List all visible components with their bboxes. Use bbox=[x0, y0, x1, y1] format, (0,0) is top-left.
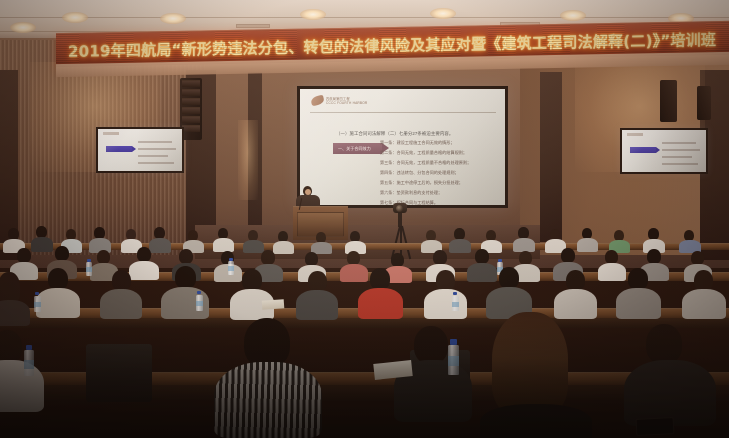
smartphone bbox=[636, 417, 675, 436]
monitor-logo bbox=[103, 132, 119, 135]
projection-screen: 四航局第四工程 CCCC FOURTH HARBOR （一）施工合同司法解释（二… bbox=[297, 86, 508, 208]
chair-back bbox=[86, 344, 152, 402]
water-bottle bbox=[86, 262, 92, 276]
monitor-section-tab bbox=[106, 146, 132, 152]
slide-divider bbox=[310, 112, 496, 113]
slide-surface: 四航局第四工程 CCCC FOURTH HARBOR （一）施工合同司法解释（二… bbox=[300, 89, 505, 205]
slide-section-tab-label: 一、关于合同效力 bbox=[338, 146, 371, 152]
ceiling-downlight bbox=[300, 9, 326, 20]
tripod-leg bbox=[400, 226, 402, 256]
ceiling-downlight bbox=[10, 22, 36, 33]
water-bottle bbox=[452, 296, 459, 311]
monitor-logo bbox=[627, 133, 643, 136]
logo-swoosh-icon bbox=[310, 95, 325, 107]
bottle-cap bbox=[229, 258, 233, 261]
side-monitor-left bbox=[96, 127, 184, 173]
desk-front-panel bbox=[0, 318, 729, 328]
wall-speaker-right-far bbox=[697, 86, 711, 120]
slide-section-tab: 一、关于合同效力 bbox=[333, 143, 382, 154]
ceiling-seam bbox=[0, 17, 729, 18]
logo-text-line2: CCCC FOURTH HARBOR bbox=[326, 101, 367, 105]
water-bottle bbox=[228, 261, 234, 275]
slide-list-item: 第一条：建设工程施工合同无效的情形； bbox=[380, 141, 504, 145]
monitor-section-tab bbox=[630, 147, 656, 153]
wall-column bbox=[248, 72, 262, 237]
bottle-cap bbox=[87, 259, 91, 262]
slide-list-item: 第四条：违法转包、分包合同的处理规则； bbox=[380, 171, 504, 175]
slide-list-item: 第六条：垫资款利息的支付处理； bbox=[380, 191, 504, 195]
wall-speaker-right bbox=[660, 80, 677, 122]
camera-lens-icon bbox=[396, 205, 403, 212]
bottle-cap bbox=[26, 345, 32, 350]
side-monitor-right-screen bbox=[622, 130, 706, 172]
paper-handout bbox=[262, 299, 285, 310]
bottle-cap bbox=[197, 291, 201, 294]
bottle-cap bbox=[498, 259, 502, 262]
ceiling-downlight bbox=[62, 12, 88, 23]
bottle-cap bbox=[35, 292, 39, 295]
ceiling-downlight bbox=[160, 13, 186, 24]
bottle-cap bbox=[453, 292, 457, 295]
ceiling-downlight bbox=[560, 10, 586, 21]
slide-logo: 四航局第四工程 CCCC FOURTH HARBOR bbox=[311, 96, 367, 105]
water-bottle bbox=[24, 350, 34, 376]
side-monitor-left-screen bbox=[98, 129, 182, 171]
slide-list-item: 第三条：合同无效，工程质量不合格的处理原则； bbox=[380, 161, 504, 165]
side-monitor-right bbox=[620, 128, 708, 174]
slide-item-list: 第一条：建设工程施工合同无效的情形； 第二条：合同无效，工程质量合格的结算规则；… bbox=[380, 141, 504, 205]
bottle-cap bbox=[450, 339, 457, 345]
ceiling-downlight bbox=[430, 8, 456, 19]
wall-column bbox=[540, 72, 562, 242]
water-bottle bbox=[448, 345, 459, 375]
ceiling-vent bbox=[236, 24, 270, 28]
conference-hall-photo: 2019年四航局“新形势违法分包、转包的法律风险及其应对暨《建筑工程司法解释(二… bbox=[0, 0, 729, 438]
slide-list-item: 第五条：施工中途停工后的，损失分担处理； bbox=[380, 181, 504, 185]
water-bottle bbox=[196, 295, 203, 311]
water-bottle bbox=[34, 296, 41, 312]
slide-list-item: 第二条：合同无效，工程质量合格的结算规则； bbox=[380, 151, 504, 155]
slide-heading: （一）施工合同司法解释（二）七册分27条被迫主要内容。 bbox=[336, 131, 453, 137]
